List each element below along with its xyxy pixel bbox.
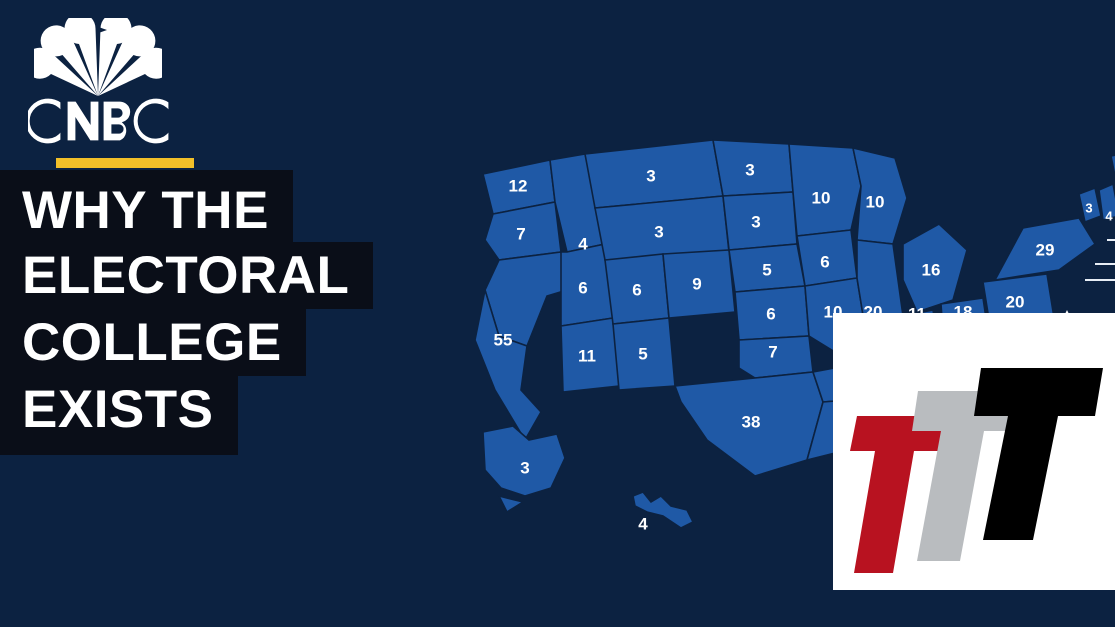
vote-IA: 6: [820, 253, 829, 272]
nbc-peacock-icon: [34, 18, 162, 96]
vote-CA: 55: [494, 331, 513, 350]
cnbc-accent-bar: [56, 158, 194, 168]
vote-PA: 20: [1006, 293, 1025, 312]
vote-SD: 3: [751, 213, 760, 232]
ttt-logo: [833, 313, 1115, 590]
vote-TX: 38: [742, 413, 761, 432]
cnbc-wordmark: [28, 98, 178, 144]
page-title: WHY THE ELECTORAL COLLEGE EXISTS: [0, 170, 373, 455]
vote-WI: 10: [866, 193, 885, 212]
ttt-mark-black: [974, 368, 1103, 540]
title-line-3: COLLEGE: [0, 309, 306, 376]
title-line-4: EXISTS: [0, 376, 238, 455]
vote-WY: 3: [654, 223, 663, 242]
vote-VT: 3: [1085, 201, 1092, 216]
vote-MN: 10: [812, 189, 831, 208]
vote-ND: 3: [745, 161, 754, 180]
vote-NM: 5: [638, 345, 647, 364]
vote-OR: 7: [516, 225, 525, 244]
vote-NE: 5: [762, 261, 771, 280]
vote-MI: 16: [922, 261, 941, 280]
vote-NH: 4: [1105, 209, 1113, 224]
vote-OK: 7: [768, 343, 777, 362]
vote-WA: 12: [509, 177, 528, 196]
title-line-1: WHY THE: [0, 170, 293, 242]
vote-ID: 4: [578, 235, 588, 254]
vote-UT: 6: [632, 281, 641, 300]
vote-MT: 3: [646, 167, 655, 186]
vote-CO: 9: [692, 275, 701, 294]
vote-AZ: 11: [578, 347, 596, 366]
vote-NY: 29: [1036, 241, 1055, 260]
title-line-2: ELECTORAL: [0, 242, 373, 309]
vote-NV: 6: [578, 279, 587, 298]
vote-AK: 3: [520, 459, 529, 478]
vote-KS: 6: [766, 305, 775, 324]
vote-HI: 4: [638, 515, 648, 534]
video-thumbnail: WHY THE ELECTORAL COLLEGE EXISTS: [0, 0, 1115, 627]
cnbc-logo: [28, 18, 178, 150]
